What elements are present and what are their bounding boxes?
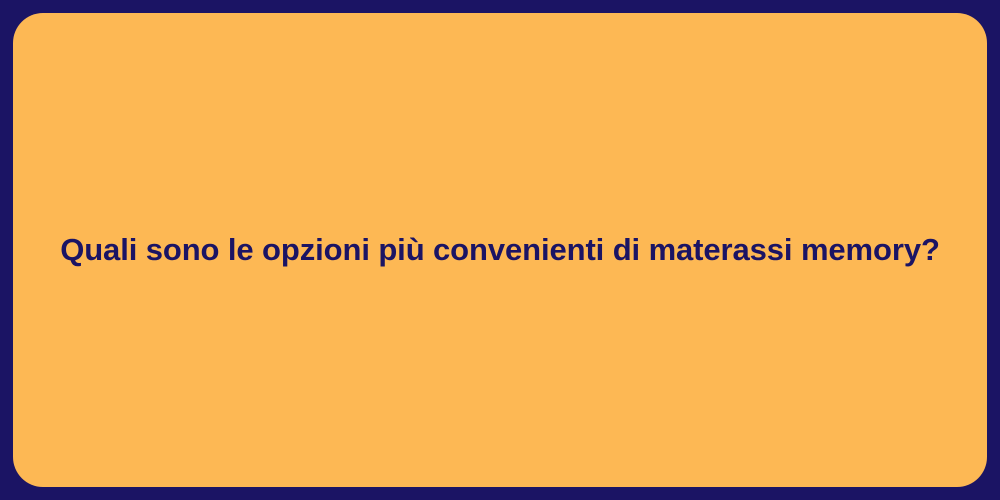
card-body: Quali sono le opzioni più convenienti di… [13, 13, 987, 487]
card-border-frame: Quali sono le opzioni più convenienti di… [0, 0, 1000, 500]
headline-text: Quali sono le opzioni più convenienti di… [60, 230, 940, 270]
